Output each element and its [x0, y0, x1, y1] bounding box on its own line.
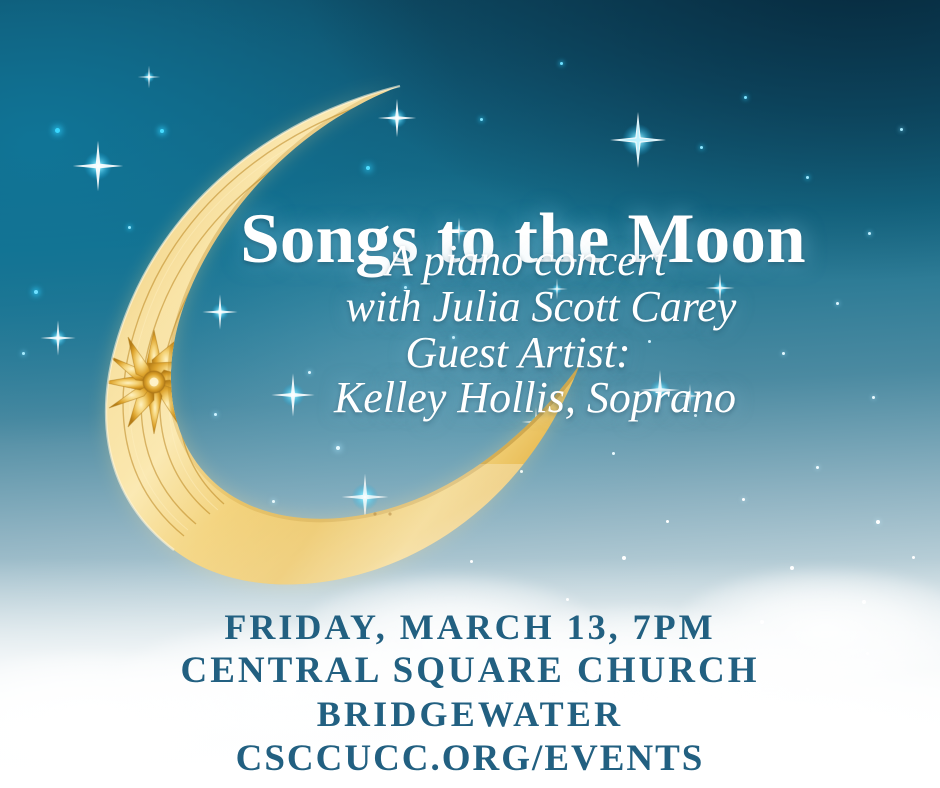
subtitle-line-1: A piano concert — [160, 238, 922, 284]
subtitle-line-2: with Julia Scott Carey — [160, 284, 922, 330]
event-venue: CENTRAL SQUARE CHURCH — [0, 651, 940, 690]
subtitle-line-4: Kelley Hollis, Soprano — [160, 375, 922, 421]
concert-poster: Songs to the Moon A piano concert with J… — [0, 0, 940, 788]
subtitle-line-3: Guest Artist: — [160, 330, 922, 376]
event-details-block: FRIDAY, MARCH 13, 7PM CENTRAL SQUARE CHU… — [0, 608, 940, 778]
event-website[interactable]: CSCCUCC.ORG/EVENTS — [0, 739, 940, 778]
event-datetime: FRIDAY, MARCH 13, 7PM — [0, 608, 940, 646]
event-city: BRIDGEWATER — [0, 695, 940, 733]
subtitle-block: A piano concert with Julia Scott Carey G… — [0, 238, 922, 421]
